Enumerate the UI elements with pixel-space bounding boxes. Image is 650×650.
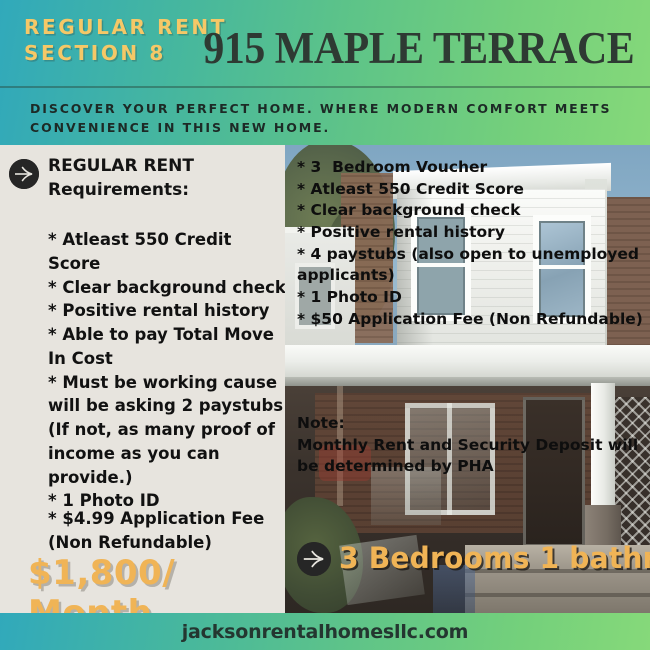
footer-band: jacksonrentalhomesllc.com [0, 613, 650, 650]
arrow-right-icon [9, 159, 39, 189]
regular-rent-panel: REGULAR RENT Requirements: * Atleast 550… [0, 145, 285, 613]
header-kicker-group: REGULAR RENT SECTION 8 [24, 14, 227, 66]
arrow-right-icon-secondary [297, 542, 331, 576]
beds-baths-label: 3 Bedrooms 1 bathroom [339, 541, 650, 575]
section8-note: Note: Monthly Rent and Security Deposit … [297, 413, 645, 478]
step-edge-lower [465, 593, 650, 597]
porch-roof [285, 345, 650, 381]
rental-flyer: REGULAR RENT SECTION 8 915 MAPLE TERRACE… [0, 0, 650, 650]
header-banner: REGULAR RENT SECTION 8 915 MAPLE TERRACE [0, 0, 650, 88]
regular-rent-requirements: * Atleast 550 Credit Score * Clear backg… [48, 228, 286, 513]
section8-requirements: * 3 Bedroom Voucher * Atleast 550 Credit… [297, 157, 645, 331]
tagline-text: DISCOVER YOUR PERFECT HOME. WHERE MODERN… [30, 99, 640, 138]
kicker-section-8: SECTION 8 [24, 40, 227, 66]
regular-rent-heading: REGULAR RENT Requirements: [48, 155, 280, 203]
page-title: 915 MAPLE TERRACE [203, 22, 634, 74]
tagline-band: DISCOVER YOUR PERFECT HOME. WHERE MODERN… [0, 88, 650, 145]
property-photo: * 3 Bedroom Voucher * Atleast 550 Credit… [285, 145, 650, 613]
kicker-regular-rent: REGULAR RENT [24, 14, 227, 40]
regular-rent-application-fee: * $4.99 Application Fee (Non Refundable) [48, 507, 286, 555]
website-url[interactable]: jacksonrentalhomesllc.com [0, 621, 650, 643]
body-area: REGULAR RENT Requirements: * Atleast 550… [0, 145, 650, 613]
